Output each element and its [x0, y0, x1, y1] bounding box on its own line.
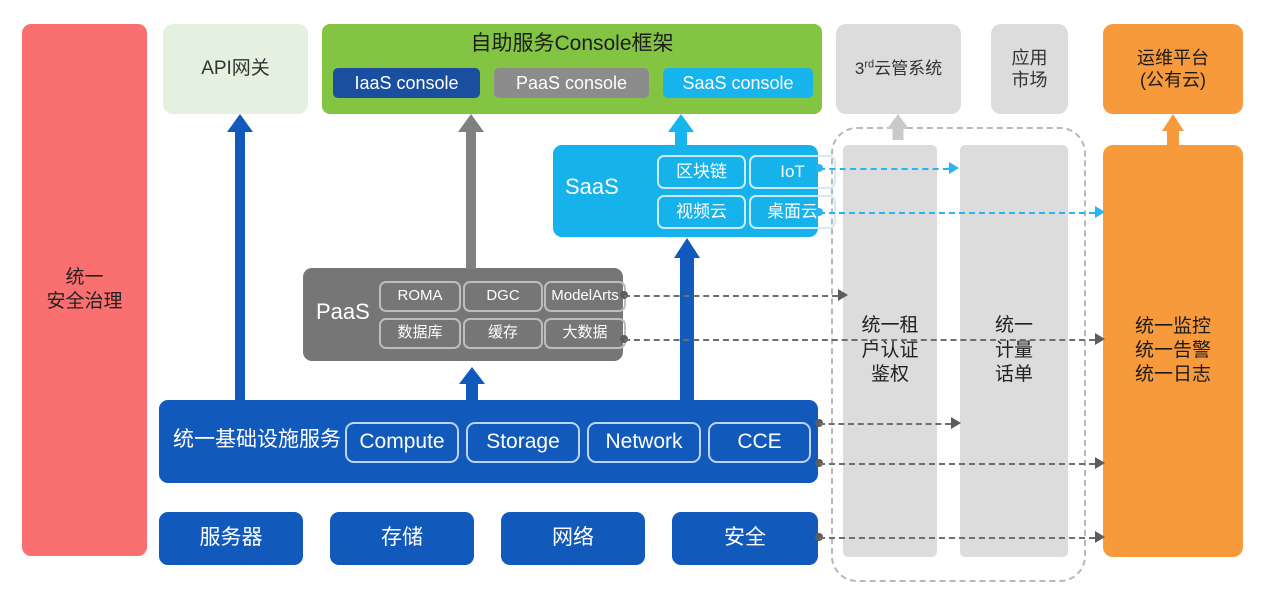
- hardware-network-block: 网络: [501, 512, 645, 565]
- dashed-line-infra-to-auth: [819, 423, 951, 425]
- paas-chip-database[interactable]: 数据库: [379, 318, 461, 349]
- paas-chip-bigdata[interactable]: 大数据: [544, 318, 626, 349]
- saas-chip-iot[interactable]: IoT: [749, 155, 836, 189]
- dashed-arrowhead-saas-to-auth: [949, 162, 959, 174]
- third-party-cloud-management-block: 3rd云管系统: [836, 24, 961, 114]
- hardware-storage-block: 存储: [330, 512, 474, 565]
- unified-tenant-auth-block: 统一租 户认证 鉴权: [843, 145, 937, 557]
- arrow-shared-to-third-cloud: [886, 114, 910, 140]
- dashed-line-paas-to-ops: [624, 339, 1095, 341]
- infra-chip-network[interactable]: Network: [587, 422, 701, 463]
- saas-chip-video-cloud[interactable]: 视频云: [657, 195, 746, 229]
- paas-chip-dgc[interactable]: DGC: [463, 281, 543, 312]
- infra-chip-storage[interactable]: Storage: [466, 422, 580, 463]
- unified-infrastructure-label: 统一基础设施服务: [173, 427, 341, 453]
- paas-chip-modelarts[interactable]: ModelArts: [544, 281, 626, 312]
- application-market-block: 应用 市场: [991, 24, 1068, 114]
- console-framework-title: 自助服务Console框架: [322, 31, 822, 57]
- saas-console-chip[interactable]: SaaS console: [663, 68, 813, 98]
- unified-security-governance-block: 统一 安全治理: [22, 24, 147, 556]
- unified-monitoring-alarm-log-block: 统一监控 统一告警 统一日志: [1103, 145, 1243, 557]
- paas-console-chip[interactable]: PaaS console: [494, 68, 649, 98]
- dashed-line-paas-to-auth: [624, 295, 838, 297]
- dashed-arrowhead-paas-to-ops: [1095, 333, 1105, 345]
- arrow-infra-to-api-gateway: [227, 114, 253, 402]
- dashed-arrowhead-infra-to-auth: [951, 417, 961, 429]
- dashed-arrowhead-paas-to-auth: [838, 289, 848, 301]
- api-gateway-block: API网关: [163, 24, 308, 114]
- arrow-infra-to-saas: [672, 238, 702, 401]
- hardware-security-block: 安全: [672, 512, 818, 565]
- paas-layer-block: PaaS ROMA DGC ModelArts 数据库 缓存 大数据: [303, 268, 623, 361]
- dashed-arrowhead-infra-to-ops: [1095, 457, 1105, 469]
- arrow-ops-column-to-ops-platform: [1161, 114, 1185, 146]
- third-cloud-label: 3rd云管系统: [855, 58, 942, 79]
- paas-chip-roma[interactable]: ROMA: [379, 281, 461, 312]
- arrow-infra-to-paas: [459, 367, 485, 401]
- ops-platform-public-cloud-block: 运维平台 (公有云): [1103, 24, 1243, 114]
- unified-infrastructure-block: 统一基础设施服务 Compute Storage Network CCE: [159, 400, 818, 483]
- console-framework-block: 自助服务Console框架 IaaS console PaaS console …: [322, 24, 822, 114]
- architecture-diagram: 统一 安全治理 API网关 自助服务Console框架 IaaS console…: [0, 0, 1265, 605]
- dashed-arrowhead-saas-to-ops: [1095, 206, 1105, 218]
- infra-chip-cce[interactable]: CCE: [708, 422, 811, 463]
- dashed-arrowhead-hardware-to-ops: [1095, 531, 1105, 543]
- saas-layer-label: SaaS: [565, 173, 645, 201]
- paas-chip-cache[interactable]: 缓存: [463, 318, 543, 349]
- infra-chip-compute[interactable]: Compute: [345, 422, 459, 463]
- arrow-saas-to-console: [668, 114, 694, 146]
- unified-metering-billing-block: 统一 计量 话单: [960, 145, 1068, 557]
- arrow-paas-to-console: [458, 114, 484, 269]
- saas-chip-blockchain[interactable]: 区块链: [657, 155, 746, 189]
- iaas-console-chip[interactable]: IaaS console: [333, 68, 480, 98]
- hardware-server-block: 服务器: [159, 512, 303, 565]
- dashed-line-saas-to-ops: [819, 212, 1095, 214]
- saas-layer-block: SaaS 区块链 IoT 视频云 桌面云: [553, 145, 818, 237]
- dashed-line-saas-to-auth: [819, 168, 949, 170]
- dashed-line-hardware-to-ops: [819, 537, 1095, 539]
- dashed-line-infra-to-ops: [819, 463, 1095, 465]
